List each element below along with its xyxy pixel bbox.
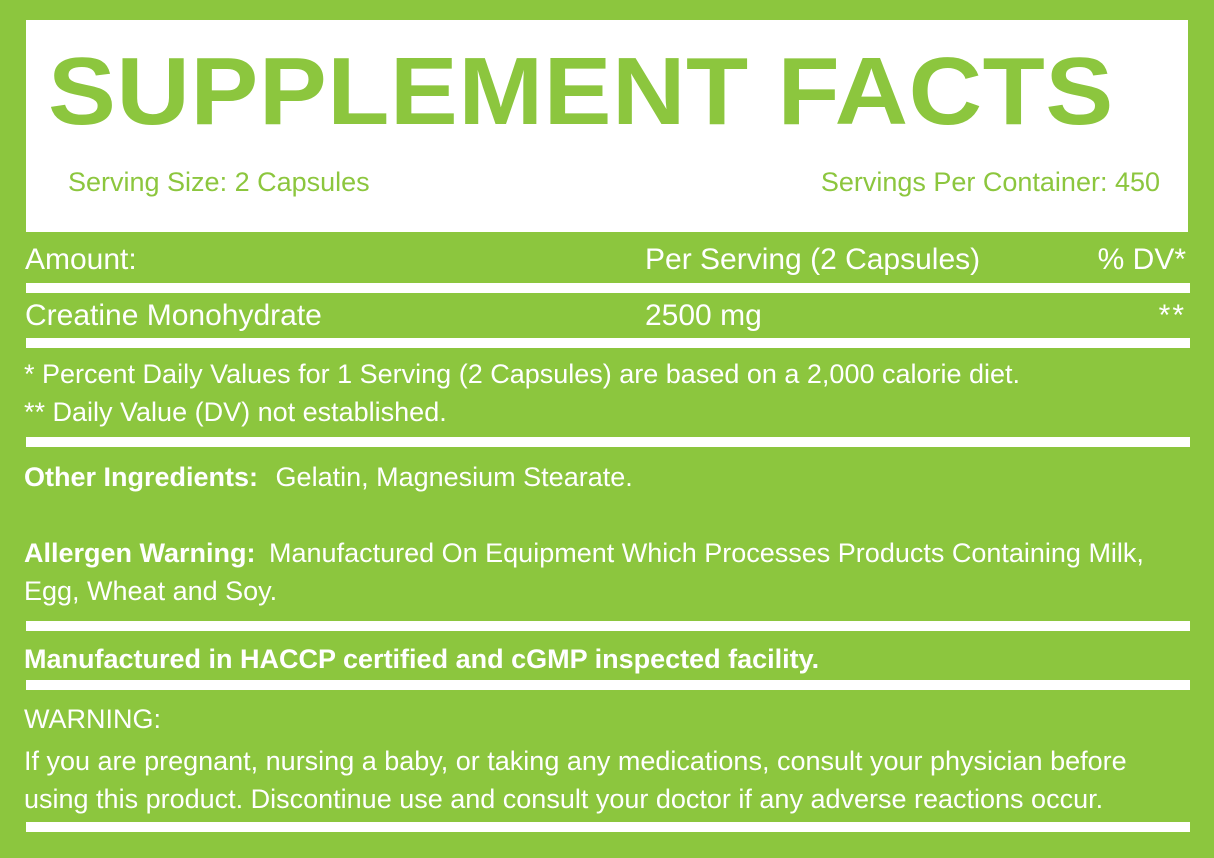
separator-rule <box>26 822 1190 832</box>
other-ingredients-label: Other Ingredients: <box>24 462 258 492</box>
separator-rule <box>26 680 1190 690</box>
other-ingredients-value: Gelatin, Magnesium Stearate. <box>266 462 633 492</box>
separator-rule <box>26 283 1190 293</box>
label-header-panel: SUPPLEMENT FACTS Serving Size: 2 Capsule… <box>26 20 1188 232</box>
separator-rule <box>26 621 1190 631</box>
ingredient-amount: 2500 mg <box>645 294 762 338</box>
separator-rule <box>26 437 1190 447</box>
warning-body-text: If you are pregnant, nursing a baby, or … <box>24 742 1188 818</box>
servings-per-container-text: Servings Per Container: 450 <box>821 166 1160 198</box>
supplement-facts-label: SUPPLEMENT FACTS Serving Size: 2 Capsule… <box>0 0 1214 858</box>
separator-rule <box>26 338 1190 348</box>
allergen-warning-label: Allergen Warning: <box>24 538 256 568</box>
footnote-daily-value-not-established: ** Daily Value (DV) not established. <box>24 393 1188 431</box>
column-header-amount: Amount: <box>25 238 137 282</box>
page-title: SUPPLEMENT FACTS <box>48 44 1214 140</box>
column-header-percent-dv: % DV* <box>1098 238 1186 282</box>
warning-heading: WARNING: <box>24 700 1188 738</box>
ingredient-name: Creatine Monohydrate <box>25 294 322 338</box>
column-header-per-serving: Per Serving (2 Capsules) <box>645 238 980 282</box>
ingredient-daily-value: ** <box>1159 294 1186 338</box>
table-row: Creatine Monohydrate 2500 mg ** <box>0 294 1214 338</box>
manufacturing-statement: Manufactured in HACCP certified and cGMP… <box>24 640 1188 678</box>
table-header-row: Amount: Per Serving (2 Capsules) % DV* <box>0 238 1214 282</box>
footnote-percent-daily-values: * Percent Daily Values for 1 Serving (2 … <box>24 355 1188 393</box>
other-ingredients-section: Other Ingredients: Gelatin, Magnesium St… <box>24 458 1188 496</box>
serving-info-row: Serving Size: 2 Capsules Servings Per Co… <box>68 162 1160 202</box>
serving-size-text: Serving Size: 2 Capsules <box>68 166 370 198</box>
allergen-warning-section: Allergen Warning: Manufactured On Equipm… <box>24 534 1188 610</box>
